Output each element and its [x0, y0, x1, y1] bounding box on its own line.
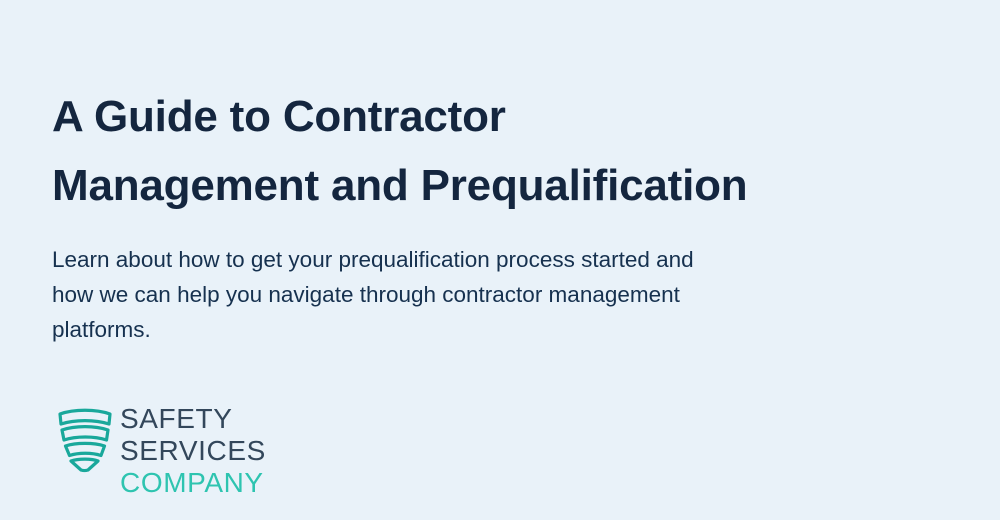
page-title: A Guide to Contractor Management and Pre…: [52, 82, 792, 220]
content-area: A Guide to Contractor Management and Pre…: [52, 0, 792, 520]
logo-line-1: SAFETY SERVICES: [120, 403, 266, 466]
shield-icon: [56, 405, 114, 473]
page-title-line-2: Management and Prequalification: [52, 151, 792, 220]
page-subtitle: Learn about how to get your prequalifica…: [52, 242, 702, 347]
logo-line-2: COMPANY: [120, 467, 264, 498]
banner-canvas: A Guide to Contractor Management and Pre…: [0, 0, 1000, 520]
page-title-line-1: A Guide to Contractor: [52, 92, 506, 141]
logo-wordmark: SAFETY SERVICES COMPANY: [120, 403, 382, 499]
decorative-graphics: [800, 0, 1000, 520]
logo: SAFETY SERVICES COMPANY: [52, 399, 382, 479]
